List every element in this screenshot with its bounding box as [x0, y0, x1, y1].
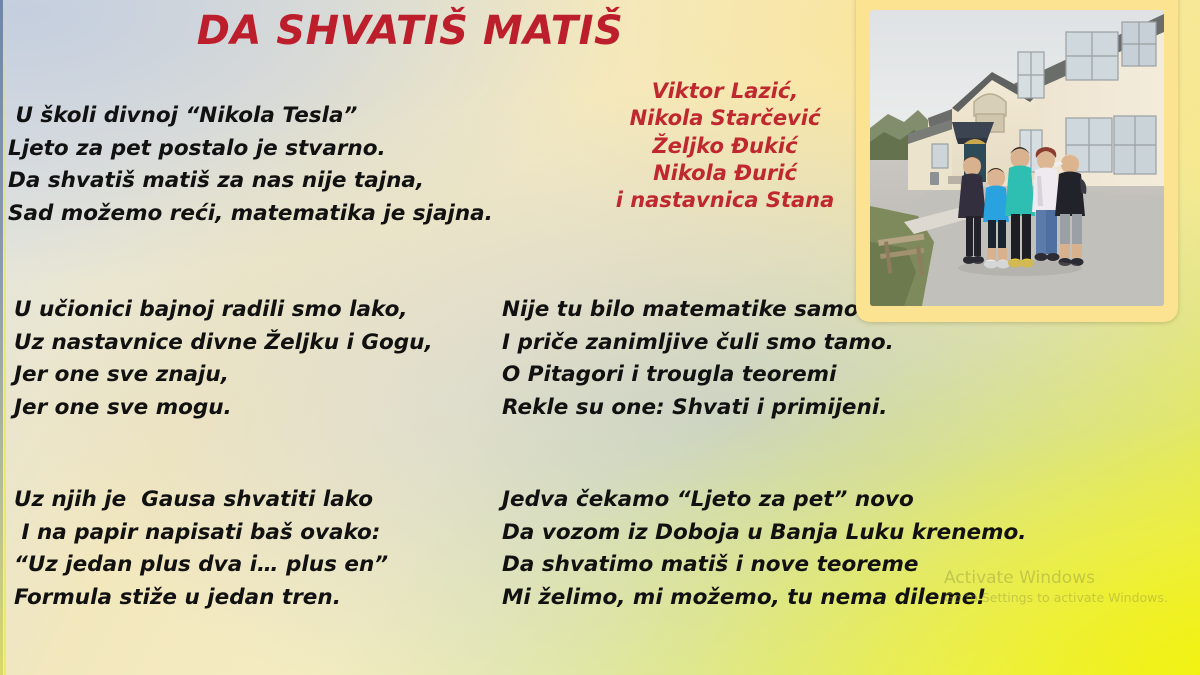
- stanza-left-1: U školi divnoj “Nikola Tesla” Ljeto za p…: [8, 100, 493, 231]
- presentation-slide: DA SHVATIŠ MATIŠ Viktor Lazić, Nikola St…: [0, 0, 1200, 675]
- windows-activation-watermark: Activate Windows Go to Settings to activ…: [944, 568, 1194, 607]
- verse-line: Nije tu bilo matematike samo: [502, 294, 894, 327]
- verse-line: U školi divnoj “Nikola Tesla”: [8, 100, 493, 133]
- verse-line: Uz nastavnice divne Željku i Gogu,: [14, 327, 433, 360]
- slide-title: DA SHVATIŠ MATIŠ: [0, 8, 820, 54]
- verse-line: Da vozom iz Doboja u Banja Luku krenemo.: [502, 517, 1026, 550]
- verse-line: Da shvatiš matiš za nas nije tajna,: [8, 165, 493, 198]
- verse-line: “Uz jedan plus dva i… plus en”: [14, 549, 388, 582]
- author-line: Nikola Starčević: [560, 105, 890, 132]
- watermark-subtitle: Go to Settings to activate Windows.: [944, 590, 1194, 607]
- verse-line: Jedva čekamo “Ljeto za pet” novo: [502, 484, 1026, 517]
- author-line: i nastavnica Stana: [560, 187, 890, 214]
- verse-line: Rekle su one: Shvati i primijeni.: [502, 392, 894, 425]
- verse-line: Jer one sve mogu.: [14, 392, 433, 425]
- authors-list: Viktor Lazić, Nikola Starčević Željko Đu…: [560, 78, 890, 214]
- author-line: Viktor Lazić,: [560, 78, 890, 105]
- left-edge-rule: [0, 0, 3, 675]
- left-edge-highlight: [4, 0, 6, 675]
- verse-line: U učionici bajnoj radili smo lako,: [14, 294, 433, 327]
- author-line: Željko Đukić: [560, 133, 890, 160]
- verse-line: Formula stiže u jedan tren.: [14, 582, 388, 615]
- verse-line: Jer one sve znaju,: [14, 359, 433, 392]
- school-photo: [870, 10, 1164, 306]
- photo-frame: [856, 0, 1178, 322]
- verse-line: I na papir napisati baš ovako:: [14, 517, 388, 550]
- stanza-left-3: Uz njih je Gausa shvatiti lako I na papi…: [14, 484, 388, 615]
- verse-line: I priče zanimljive čuli smo tamo.: [502, 327, 894, 360]
- watermark-title: Activate Windows: [944, 568, 1194, 589]
- verse-line: Ljeto za pet postalo je stvarno.: [8, 133, 493, 166]
- verse-line: Uz njih je Gausa shvatiti lako: [14, 484, 388, 517]
- school-photo-artwork: [870, 10, 1164, 306]
- stanza-left-2: U učionici bajnoj radili smo lako, Uz na…: [14, 294, 433, 425]
- author-line: Nikola Đurić: [560, 160, 890, 187]
- stanza-right-1: Nije tu bilo matematike samo I priče zan…: [502, 294, 894, 425]
- verse-line: O Pitagori i trougla teoremi: [502, 359, 894, 392]
- verse-line: Sad možemo reći, matematika je sjajna.: [8, 198, 493, 231]
